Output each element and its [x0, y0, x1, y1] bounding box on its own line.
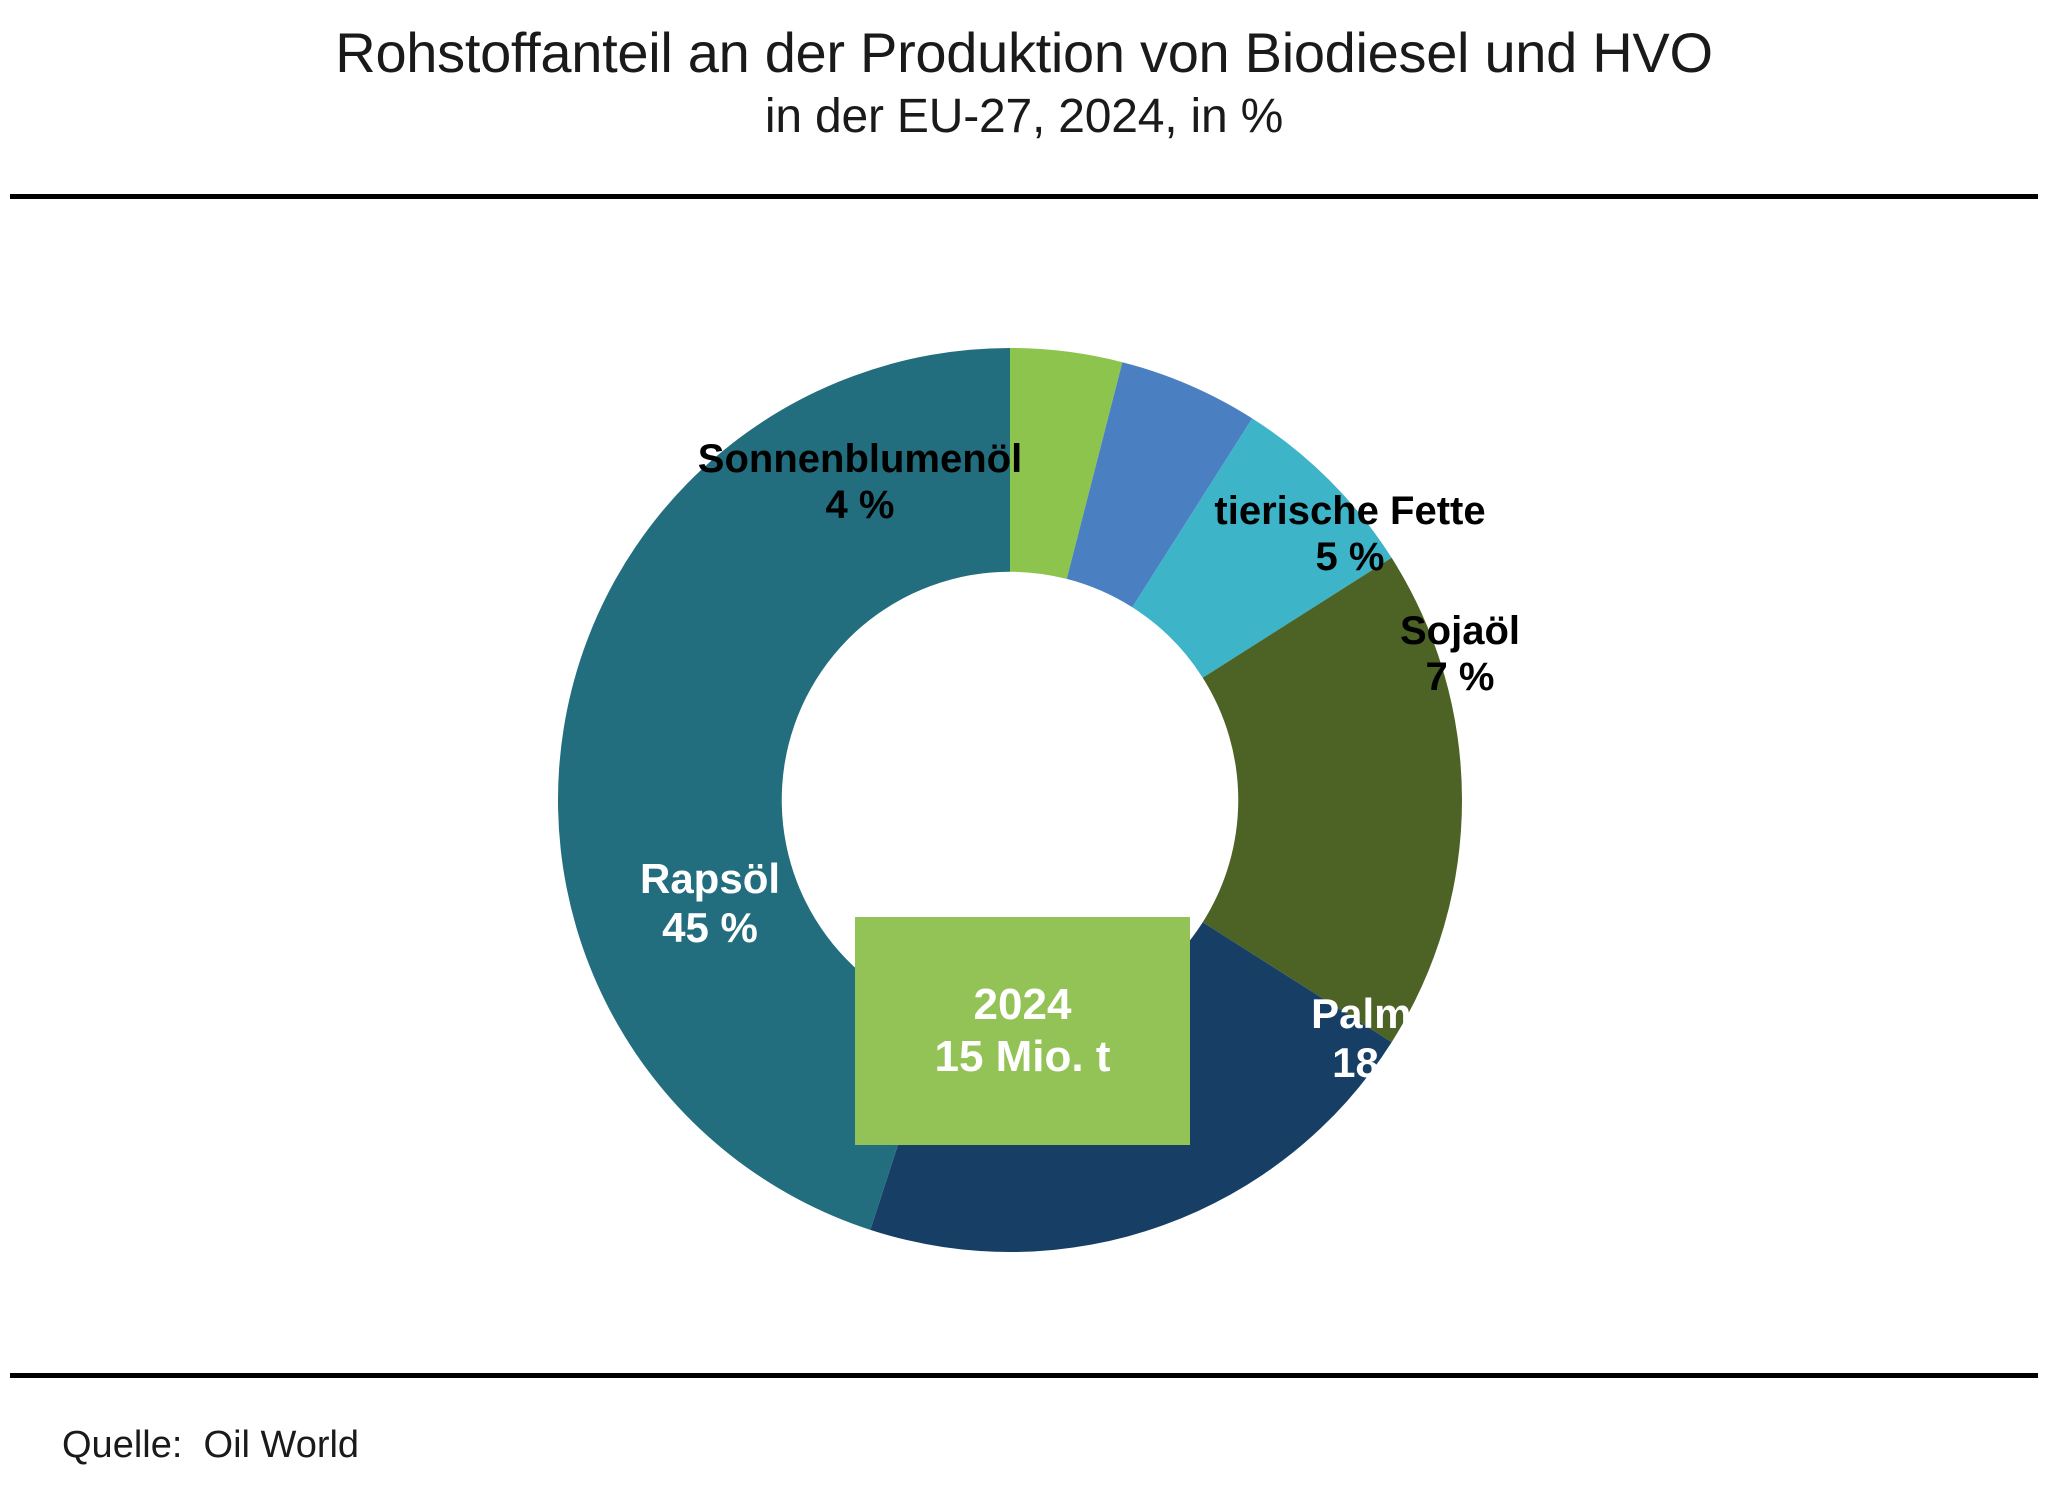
slice-label-sonnenblumenoel-value: 4 % [650, 482, 1070, 528]
slice-label-palmoel-name: Palmöl [1250, 990, 1510, 1039]
center-value-box: 2024 15 Mio. t [855, 917, 1190, 1145]
slice-label-sojaoel-name: Sojaöl [1280, 608, 1640, 654]
slice-label-sonnenblumenoel: Sonnenblumenöl 4 % [650, 436, 1070, 529]
slice-label-rapsoel-value: 45 % [570, 904, 850, 953]
center-year-label: 2024 [974, 983, 1072, 1027]
slice-label-tierische-fette: tierische Fette 5 % [1150, 488, 1550, 581]
slice-label-tierische-fette-name: tierische Fette [1150, 488, 1550, 534]
source-note: Quelle: Oil World [62, 1424, 359, 1467]
slice-label-altspeisefette-value: 21 % [960, 1341, 1360, 1390]
center-total-label: 15 Mio. t [934, 1035, 1110, 1079]
slice-label-sojaoel: Sojaöl 7 % [1280, 608, 1640, 701]
chart-title-line-1: Rohstoffanteil an der Produktion von Bio… [0, 22, 2048, 85]
donut-chart-area: 2024 15 Mio. t Sonnenblumenöl 4 % tieris… [0, 200, 2048, 1372]
chart-subtitle-line-2: in der EU-27, 2024, in % [0, 89, 2048, 146]
slice-label-sojaoel-value: 7 % [1280, 654, 1640, 700]
slice-label-rapsoel-name: Rapsöl [570, 855, 850, 904]
chart-title-block: Rohstoffanteil an der Produktion von Bio… [0, 22, 2048, 145]
slice-label-altspeisefette-name: Altspeisefette [960, 1292, 1360, 1341]
slice-label-palmoel: Palmöl 18 % [1250, 990, 1510, 1087]
slice-label-sonnenblumenoel-name: Sonnenblumenöl [650, 436, 1070, 482]
slice-label-palmoel-value: 18 % [1250, 1039, 1510, 1088]
slice-label-tierische-fette-value: 5 % [1150, 534, 1550, 580]
footer-divider-rule [10, 1373, 2038, 1378]
header-divider-rule [10, 194, 2038, 199]
slice-label-rapsoel: Rapsöl 45 % [570, 855, 850, 952]
